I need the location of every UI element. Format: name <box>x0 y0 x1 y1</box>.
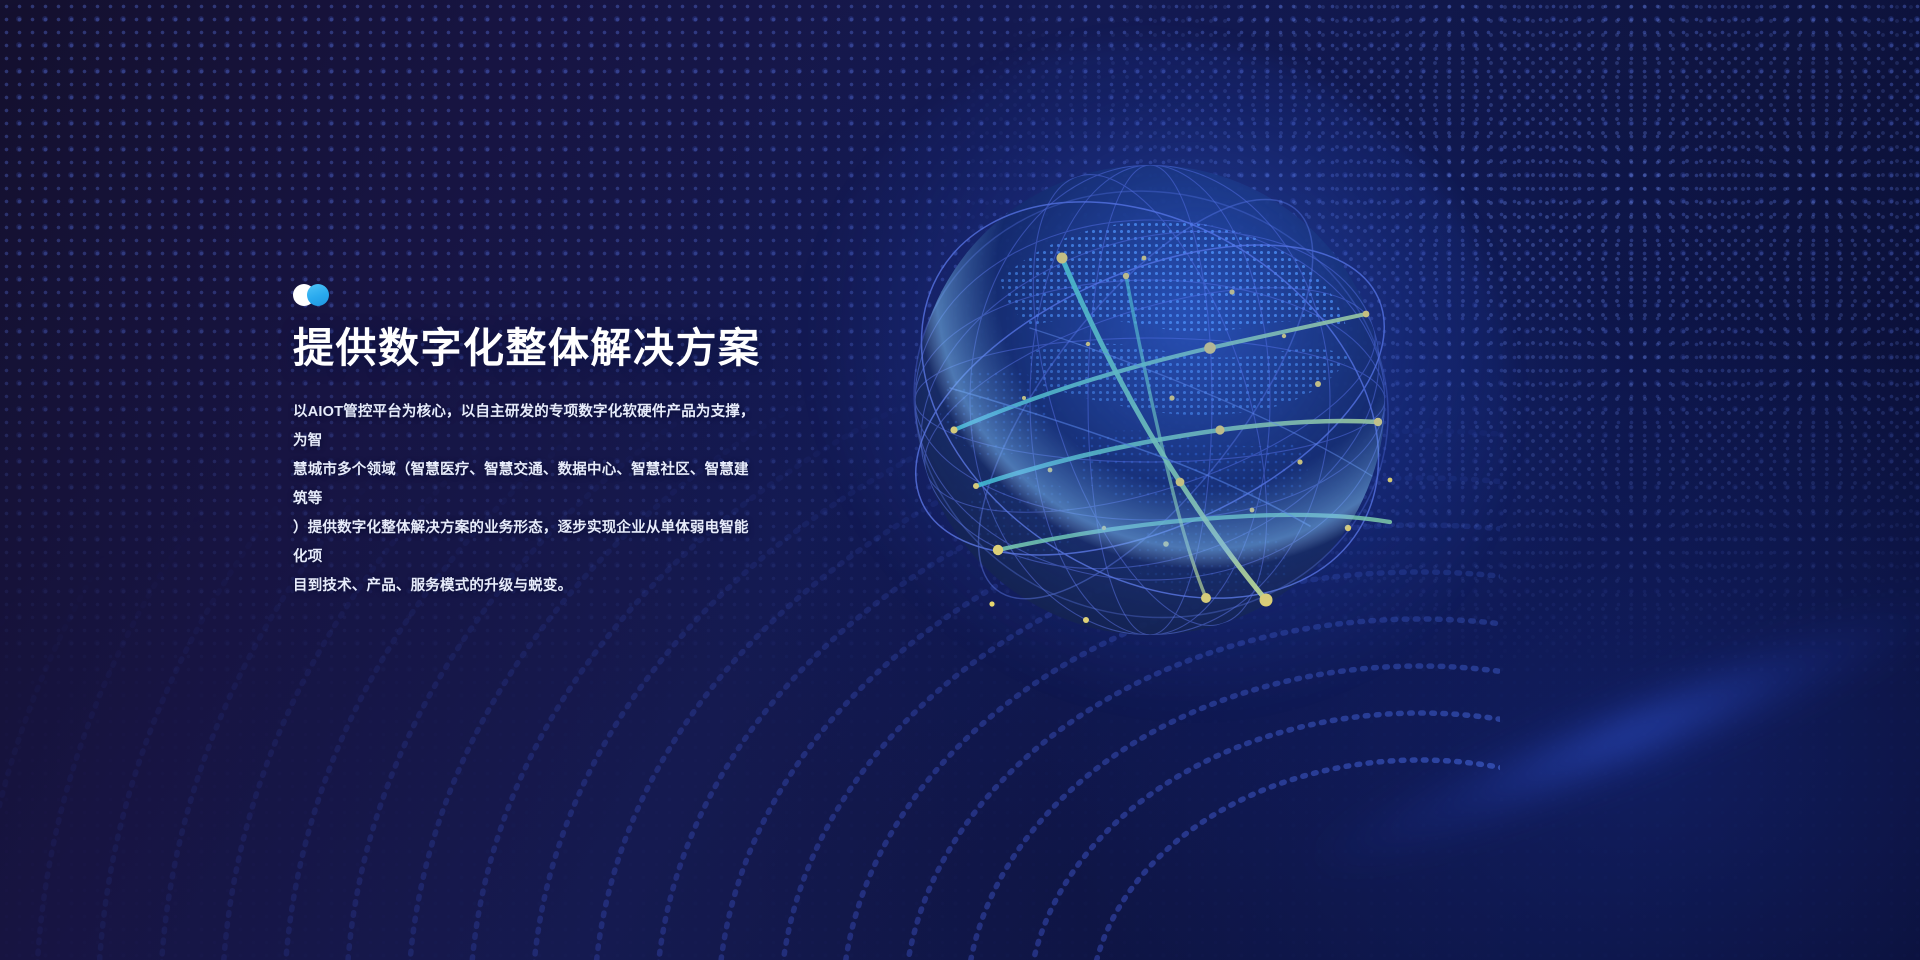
page-description: 以AIOT管控平台为核心，以自主研发的专项数字化软硬件产品为支撑，为智 慧城市多… <box>293 398 763 601</box>
logo-dot-cyan-icon <box>307 284 329 306</box>
hero-banner: 提供数字化整体解决方案 以AIOT管控平台为核心，以自主研发的专项数字化软硬件产… <box>0 0 1920 960</box>
globe-glow <box>790 40 1510 760</box>
hero-content: 提供数字化整体解决方案 以AIOT管控平台为核心，以自主研发的专项数字化软硬件产… <box>293 284 763 601</box>
page-title: 提供数字化整体解决方案 <box>293 326 763 372</box>
logo-mark <box>293 284 349 306</box>
description-line: 目到技术、产品、服务模式的升级与蜕变。 <box>293 572 763 601</box>
network-globe-graphic <box>880 130 1420 670</box>
description-line: ）提供数字化整体解决方案的业务形态，逐步实现企业从单体弱电智能化项 <box>293 514 763 572</box>
description-line: 慧城市多个领域（智慧医疗、智慧交通、数据中心、智慧社区、智慧建筑等 <box>293 456 763 514</box>
description-line: 以AIOT管控平台为核心，以自主研发的专项数字化软硬件产品为支撑，为智 <box>293 398 763 456</box>
